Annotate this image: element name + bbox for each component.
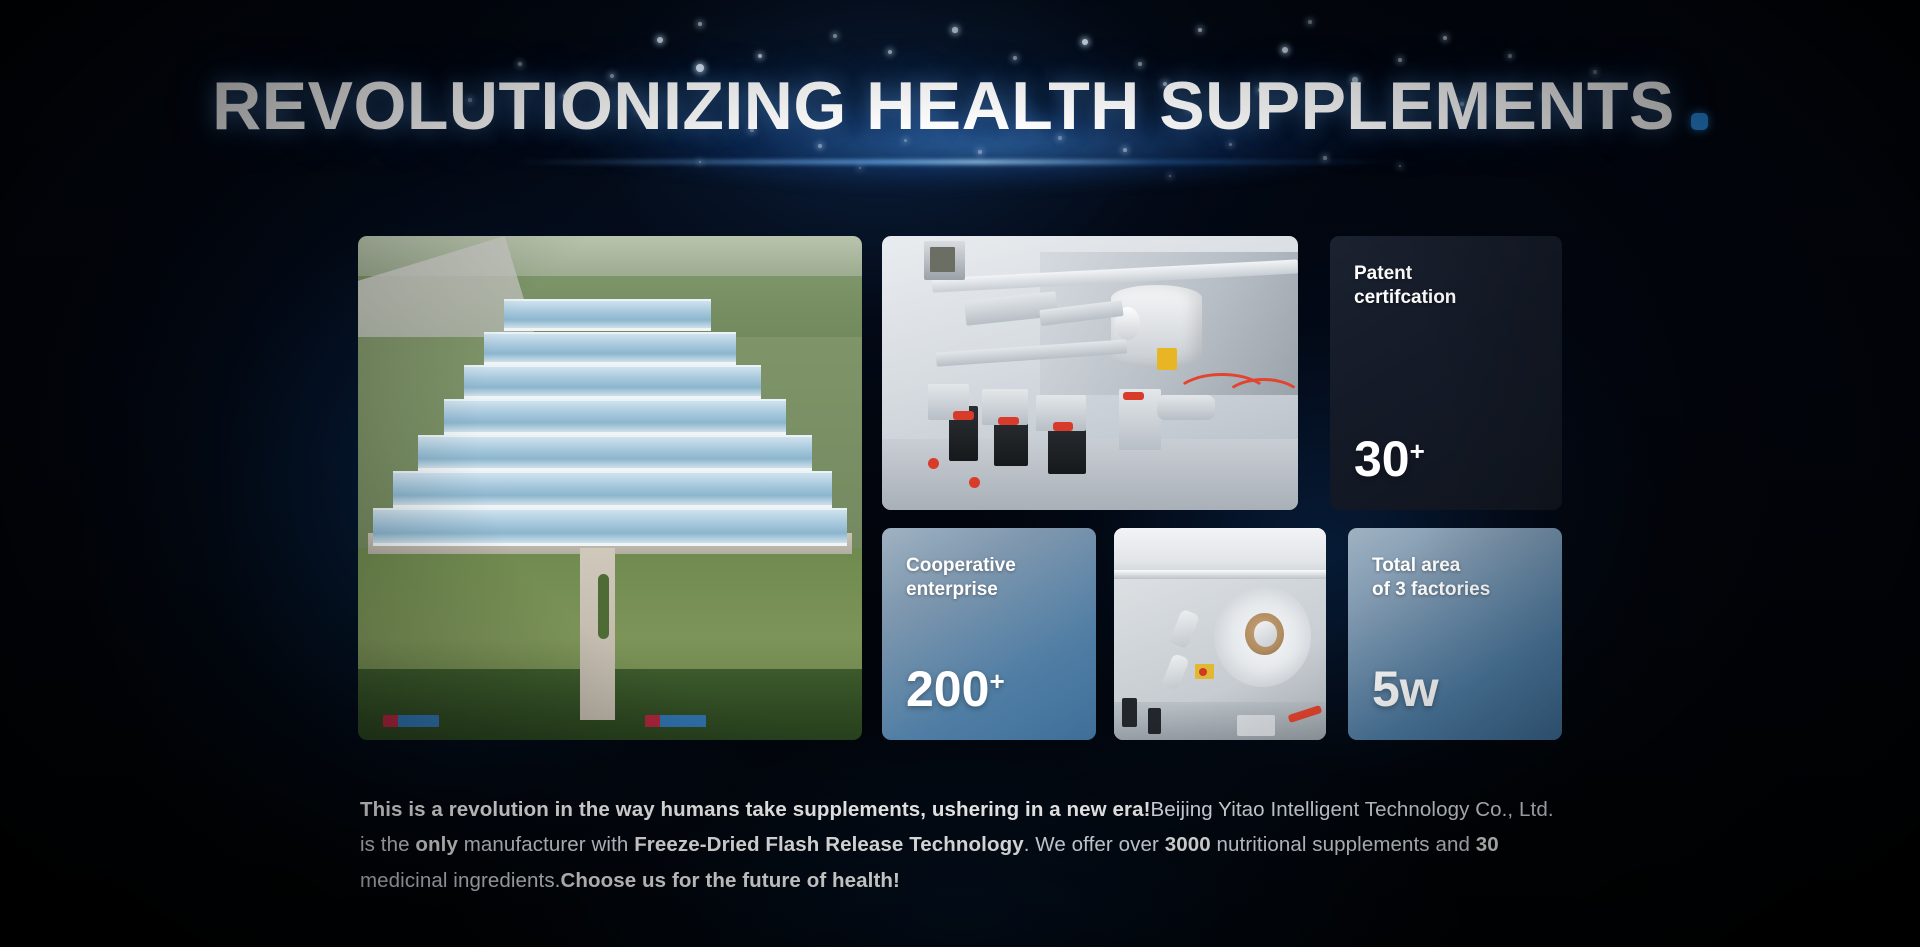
hero-section: REVOLUTIONIZING HEALTH SUPPLEMENTS — [0, 0, 1920, 947]
background-vignette — [0, 0, 1920, 947]
